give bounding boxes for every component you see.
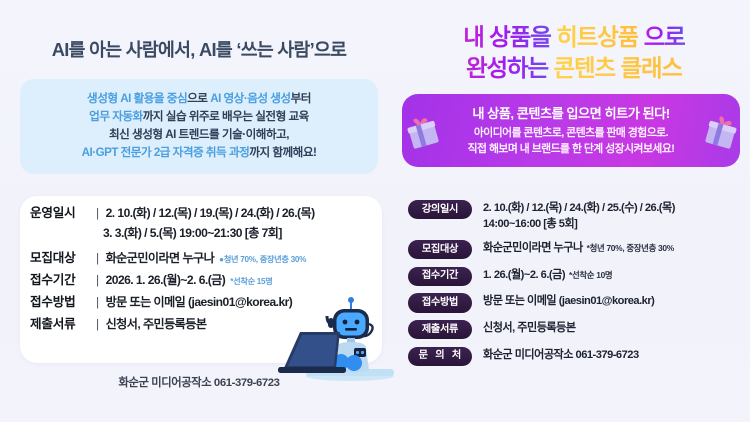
poster-root: AI를 아는 사람에서, AI를 ‘쓰는 사람’으로 생성형 AI 활용을 중심… bbox=[0, 0, 750, 422]
left-headline: AI를 아는 사람에서, AI를 ‘쓰는 사람’으로 bbox=[14, 36, 384, 62]
info-box-line: 생성형 AI 활용을 중심으로 AI 영상·음성 생성부터 bbox=[26, 90, 372, 108]
right-promo-box: 내 상품, 콘텐츠를 입으면 히트가 된다! 아이디어를 콘텐츠로, 콘텐츠를 … bbox=[402, 94, 740, 167]
promo-title: 내 상품, 콘텐츠를 입으면 히트가 된다! bbox=[436, 103, 706, 122]
detail-label: 운영일시 bbox=[30, 202, 96, 221]
info-highlight-text: AI·GPT 전문가 2급 자격증 취득 과정 bbox=[82, 146, 250, 159]
detail-label: 접수방법 bbox=[30, 291, 96, 310]
left-detail-row: 모집대상|화순군민이라면 누구나●청년 70%, 중장년층 30% bbox=[30, 247, 380, 266]
info-box-line: 업무 자동화까지 실습 위주로 배우는 실전형 교육 bbox=[26, 108, 372, 126]
info-box-line: 최신 생성형 AI 트렌드를 기술·이해하고, bbox=[26, 126, 372, 144]
right-detail-row: 접수기간1. 26.(월)~2. 6.(금)*선착순 10명 bbox=[408, 267, 750, 286]
headline-text: 완성하는 bbox=[466, 55, 554, 81]
detail-value-text: 화순군 미디어공작소 061-379-6723 bbox=[483, 349, 639, 361]
detail-label: 제출서류 bbox=[30, 313, 96, 332]
detail-note: ●청년 70%, 중장년층 30% bbox=[219, 255, 306, 264]
detail-value: 2. 10.(화) / 12.(목) / 24.(화) / 25.(수) / 2… bbox=[483, 200, 675, 233]
detail-label: 접수기간 bbox=[30, 269, 96, 288]
detail-separator: | bbox=[96, 206, 99, 220]
detail-value: 화순군민이라면 누구나●청년 70%, 중장년층 30% bbox=[106, 249, 307, 266]
robot-laptop-illustration bbox=[278, 296, 394, 382]
detail-separator: | bbox=[96, 251, 99, 265]
headline-accent-text: 히트상품 bbox=[556, 24, 638, 50]
detail-label-pill: 강의일시 bbox=[408, 200, 472, 219]
promo-subtitle: 아이디어를 콘텐츠로, 콘텐츠를 판매 경험으로.직접 해보며 내 브랜드를 한… bbox=[436, 125, 706, 157]
info-highlight-text: 생성형 AI 활용을 중심 bbox=[87, 92, 187, 105]
left-detail-row: 접수기간|2026. 1. 26.(월)~2. 6.(금)*선착순 15명 bbox=[30, 269, 380, 288]
detail-label-pill: 문 의 처 bbox=[408, 347, 472, 366]
info-plain-text: 부터 bbox=[291, 92, 311, 105]
left-detail-row: 운영일시|2. 10.(화) / 12.(목) / 19.(목) / 24.(화… bbox=[30, 202, 380, 221]
detail-value: 신청서, 주민등록등본 bbox=[483, 320, 576, 337]
gift-box-icon bbox=[406, 116, 440, 150]
detail-value-text: 1. 26.(월)~2. 6.(금) bbox=[483, 269, 565, 281]
right-detail-row: 접수방법방문 또는 이메일 (jaesin01@korea.kr) bbox=[408, 293, 750, 312]
headline-text: 으로 bbox=[638, 24, 684, 50]
detail-separator: | bbox=[96, 295, 99, 309]
promo-subtitle-line: 아이디어를 콘텐츠로, 콘텐츠를 판매 경험으로. bbox=[436, 125, 706, 141]
detail-value: 2026. 1. 26.(월)~2. 6.(금)*선착순 15명 bbox=[106, 271, 273, 288]
detail-value: 화순군 미디어공작소 061-379-6723 bbox=[483, 347, 639, 364]
detail-label-pill: 제출서류 bbox=[408, 320, 472, 339]
detail-separator: | bbox=[96, 317, 99, 331]
headline-line: 완성하는 콘텐츠 클래스 bbox=[398, 53, 750, 84]
detail-note: *선착순 10명 bbox=[569, 270, 612, 280]
right-detail-row: 문 의 처화순군 미디어공작소 061-379-6723 bbox=[408, 347, 750, 366]
left-info-box: 생성형 AI 활용을 중심으로 AI 영상·음성 생성부터업무 자동화까지 실습… bbox=[20, 79, 378, 174]
detail-value: 방문 또는 이메일 (jaesin01@korea.kr) bbox=[106, 293, 293, 310]
gift-box-icon bbox=[704, 116, 738, 150]
right-detail-row: 제출서류신청서, 주민등록등본 bbox=[408, 320, 750, 339]
detail-value: 2. 10.(화) / 12.(목) / 19.(목) / 24.(화) / 2… bbox=[106, 204, 315, 221]
detail-value: 화순군민이라면 누구나*청년 70%, 중장년층 30% bbox=[483, 240, 674, 257]
info-highlight-text: AI 영상·음성 생성 bbox=[210, 92, 290, 105]
detail-value-continued: 14:00~16:00 [총 5회] bbox=[483, 217, 675, 233]
headline-text: 내 상품을 bbox=[463, 24, 556, 50]
headline-line: 내 상품을 히트상품 으로 bbox=[398, 22, 750, 53]
detail-value: 신청서, 주민등록등본 bbox=[106, 315, 207, 332]
right-details-rows: 강의일시2. 10.(화) / 12.(목) / 24.(화) / 25.(수)… bbox=[408, 200, 750, 374]
info-highlight-text: 업무 자동화 bbox=[89, 110, 143, 123]
right-detail-row: 강의일시2. 10.(화) / 12.(목) / 24.(화) / 25.(수)… bbox=[408, 200, 750, 233]
detail-label-pill: 접수기간 bbox=[408, 267, 472, 286]
detail-note: *선착순 15명 bbox=[230, 277, 272, 286]
left-contact-line: 화순군 미디어공작소 061-379-6723 bbox=[0, 374, 398, 390]
info-box-line: AI·GPT 전문가 2급 자격증 취득 과정까지 함께해요! bbox=[26, 144, 372, 162]
detail-label: 모집대상 bbox=[30, 247, 96, 266]
detail-value-text: 2. 10.(화) / 12.(목) / 24.(화) / 25.(수) / 2… bbox=[483, 202, 675, 214]
detail-value-text: 방문 또는 이메일 (jaesin01@korea.kr) bbox=[483, 295, 654, 307]
detail-value: 방문 또는 이메일 (jaesin01@korea.kr) bbox=[483, 293, 654, 310]
left-course-panel: AI를 아는 사람에서, AI를 ‘쓰는 사람’으로 생성형 AI 활용을 중심… bbox=[0, 0, 398, 422]
detail-value-text: 화순군민이라면 누구나 bbox=[483, 242, 583, 254]
right-course-panel: 내 상품을 히트상품 으로완성하는 콘텐츠 클래스 내 상품, 콘텐츠를 입으면… bbox=[398, 0, 750, 422]
detail-label-pill: 모집대상 bbox=[408, 240, 472, 259]
info-plain-text: 최신 생성형 AI 트렌드를 기술·이해하고, bbox=[109, 128, 289, 141]
headline-accent-text: 콘텐츠 클래스 bbox=[553, 55, 682, 81]
detail-value-text: 신청서, 주민등록등본 bbox=[483, 322, 576, 334]
right-detail-row: 모집대상화순군민이라면 누구나*청년 70%, 중장년층 30% bbox=[408, 240, 750, 259]
detail-separator: | bbox=[96, 273, 99, 287]
detail-value-continued: 3. 3.(화) / 5.(목) 19:00~21:30 [총 7회] bbox=[30, 224, 380, 241]
info-plain-text: 까지 실습 위주로 배우는 실전형 교육 bbox=[143, 110, 309, 123]
detail-note: *청년 70%, 중장년층 30% bbox=[587, 243, 674, 253]
detail-label-pill: 접수방법 bbox=[408, 293, 472, 312]
right-headline: 내 상품을 히트상품 으로완성하는 콘텐츠 클래스 bbox=[398, 22, 750, 85]
info-plain-text: 까지 함께해요! bbox=[249, 146, 316, 159]
detail-value: 1. 26.(월)~2. 6.(금)*선착순 10명 bbox=[483, 267, 612, 284]
promo-subtitle-line: 직접 해보며 내 브랜드를 한 단계 성장시켜보세요! bbox=[436, 141, 706, 157]
info-plain-text: 으로 bbox=[187, 92, 210, 105]
